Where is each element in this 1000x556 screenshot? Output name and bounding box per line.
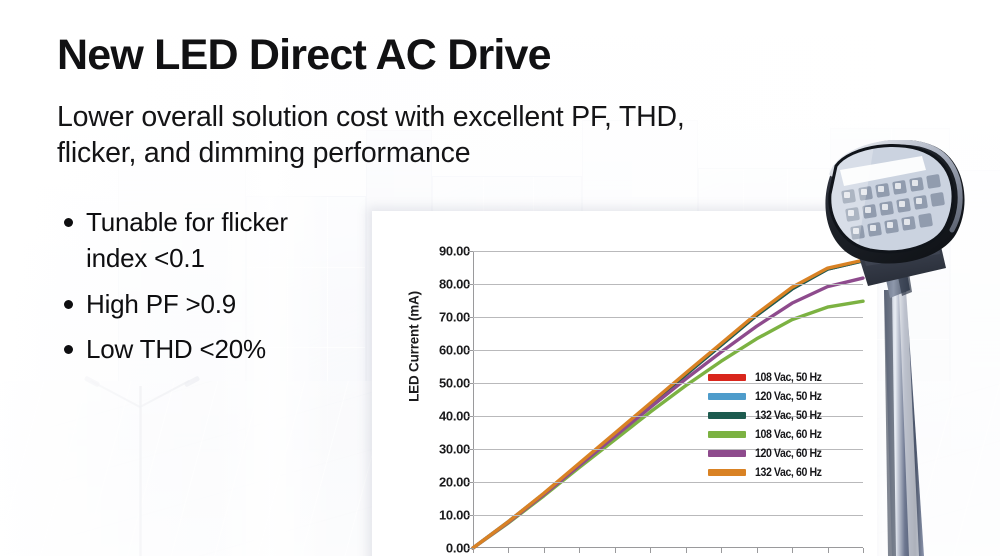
lamp-head-shell xyxy=(825,140,966,264)
legend-color-swatch xyxy=(708,374,746,381)
chart-x-tick-mark xyxy=(721,548,722,553)
chart-gridline xyxy=(473,515,863,516)
chart-y-tick-mark xyxy=(468,416,473,417)
chart-x-tick-mark xyxy=(508,548,509,553)
chart-y-tick-label: 90.00 xyxy=(400,244,470,259)
list-item: Low THD <20% xyxy=(60,331,390,367)
chart-y-tick-label: 40.00 xyxy=(400,409,470,424)
chart-y-tick-mark xyxy=(468,383,473,384)
chart-y-tick-mark xyxy=(468,482,473,483)
chart-gridline xyxy=(473,317,863,318)
chart-gridline xyxy=(473,350,863,351)
legend-color-swatch xyxy=(708,469,746,476)
chart-y-axis-ticks: 90.0080.0070.0060.0050.0040.0030.0020.00… xyxy=(396,211,470,556)
chart-y-tick-label: 10.00 xyxy=(400,508,470,523)
page-title: New LED Direct AC Drive xyxy=(57,33,551,78)
chart-gridline xyxy=(473,251,863,252)
chart-y-tick-label: 60.00 xyxy=(400,343,470,358)
chart-x-tick-mark xyxy=(650,548,651,553)
chart-y-tick-label: 0.00 xyxy=(400,541,470,556)
chart-x-tick-mark xyxy=(544,548,545,553)
chart-y-tick-mark xyxy=(468,284,473,285)
feature-bullet-list: Tunable for flicker index <0.1 High PF >… xyxy=(60,204,390,377)
subtitle-line-1: Lower overall solution cost with excelle… xyxy=(57,99,887,135)
chart-y-tick-mark xyxy=(468,350,473,351)
legend-color-swatch xyxy=(708,431,746,438)
list-item: Tunable for flicker index <0.1 xyxy=(60,204,390,277)
subtitle-line-2: flicker, and dimming performance xyxy=(57,135,887,171)
bullet-line-1: High PF >0.9 xyxy=(86,289,236,319)
chart-y-tick-mark xyxy=(468,251,473,252)
chart-y-tick-label: 30.00 xyxy=(400,442,470,457)
list-item: High PF >0.9 xyxy=(60,286,390,322)
chart-x-tick-mark xyxy=(579,548,580,553)
page-subtitle: Lower overall solution cost with excelle… xyxy=(57,99,887,172)
chart-y-tick-mark xyxy=(468,317,473,318)
chart-x-tick-mark xyxy=(473,548,474,553)
bullet-line-1: Low THD <20% xyxy=(86,334,266,364)
chart-x-tick-mark xyxy=(615,548,616,553)
led-street-lamp-icon xyxy=(806,140,1000,556)
chart-gridline xyxy=(473,284,863,285)
chart-x-tick-mark xyxy=(757,548,758,553)
legend-color-swatch xyxy=(708,393,746,400)
chart-y-tick-mark xyxy=(468,515,473,516)
lamp-pole xyxy=(884,290,924,556)
background-street-lamp-icon xyxy=(88,356,198,556)
chart-y-tick-label: 70.00 xyxy=(400,310,470,325)
chart-gridline xyxy=(473,482,863,483)
chart-y-tick-label: 50.00 xyxy=(400,376,470,391)
promo-graphic: New LED Direct AC Drive Lower overall so… xyxy=(0,0,1000,556)
chart-panel: LED Current (mA) 90.0080.0070.0060.0050.… xyxy=(372,211,877,556)
bullet-line-1: Tunable for flicker xyxy=(86,207,288,237)
legend-color-swatch xyxy=(708,412,746,419)
chart-y-tick-label: 20.00 xyxy=(400,475,470,490)
chart-x-tick-mark xyxy=(686,548,687,553)
chart-x-tick-mark xyxy=(792,548,793,553)
bullet-line-2: index <0.1 xyxy=(86,240,390,276)
chart-y-tick-label: 80.00 xyxy=(400,277,470,292)
chart-y-tick-mark xyxy=(468,449,473,450)
legend-color-swatch xyxy=(708,450,746,457)
led-luminaire-illustration xyxy=(806,140,1000,556)
